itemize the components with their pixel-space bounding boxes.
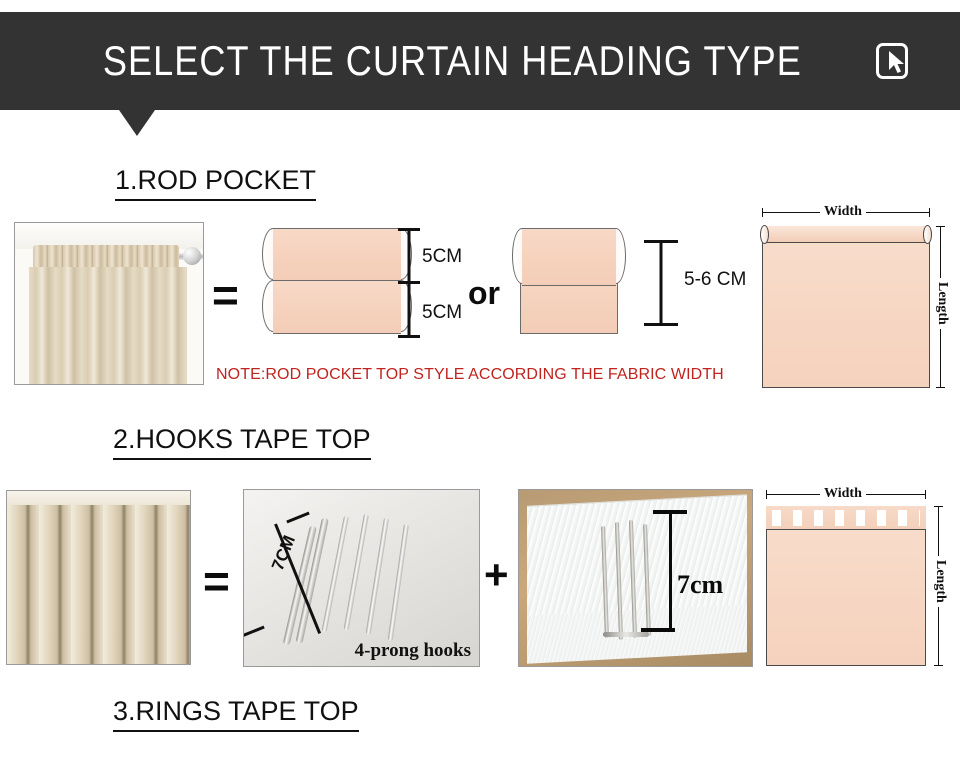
panel-rod-endcap-left — [760, 225, 769, 244]
tape-dimension-cap-bottom — [641, 628, 675, 632]
banner-pointer-tail — [119, 110, 155, 136]
panel-fabric-body — [766, 506, 926, 666]
operator-plus: + — [484, 554, 509, 596]
four-prong-hooks-photo: 7CM 4-prong hooks — [243, 489, 480, 667]
cylinder-body-bottom — [273, 280, 401, 334]
dimension-tick-bottom — [398, 335, 420, 338]
tape-hook-base — [603, 632, 649, 637]
section-heading-rings-tape-top: 3.RINGS TAPE TOP — [113, 696, 359, 732]
dimension-tick-bottom — [644, 323, 678, 326]
dimension-tick-middle — [398, 281, 420, 284]
rod-pocket-single-cylinder-diagram — [512, 228, 632, 336]
dimension-line-5cm-pair — [398, 228, 420, 338]
tape-dimension-line — [669, 512, 672, 630]
operator-equals-1: = — [212, 272, 239, 318]
panel2-length-label: Length — [932, 556, 948, 607]
rod-pocket-note: NOTE:ROD POCKET TOP STYLE ACCORDING THE … — [216, 366, 724, 384]
header-banner: SELECT THE CURTAIN HEADING TYPE — [0, 12, 960, 110]
dimension-tick-top — [644, 240, 678, 243]
cursor-arrow-icon — [889, 51, 909, 75]
dimension-label-top-5cm: 5CM — [422, 246, 462, 268]
panel-rod-endcap-right — [923, 225, 932, 244]
dimension-tick-top — [398, 228, 420, 231]
pinch-pleat-curtain-photo — [6, 490, 191, 665]
panel-tape-band — [766, 506, 926, 530]
page-title: SELECT THE CURTAIN HEADING TYPE — [102, 37, 801, 85]
section-heading-hooks-tape-top: 2.HOOKS TAPE TOP — [113, 424, 371, 460]
panel-fabric-body — [762, 226, 930, 388]
cylinder-body-top — [273, 228, 401, 282]
dimension-stem — [660, 242, 663, 324]
hooks-photo-caption: 4-prong hooks — [355, 640, 471, 662]
dimension-label-5-6cm: 5-6 CM — [684, 269, 746, 291]
dimension-line-5-6cm — [644, 240, 678, 326]
panel-rod-pocket-band — [762, 226, 930, 243]
rod-pocket-curtain-photo — [14, 222, 204, 385]
panel1-width-label: Width — [820, 204, 866, 220]
tape-dimension-cap-top — [653, 510, 687, 514]
rod-finial — [183, 247, 201, 265]
pleat-folds — [7, 505, 190, 665]
cylinder-body — [522, 228, 616, 286]
curtain-heading-type-infographic: SELECT THE CURTAIN HEADING TYPE 1.ROD PO… — [0, 0, 960, 760]
curtain-drape — [29, 267, 187, 385]
panel2-width-label: Width — [820, 486, 866, 502]
rod-pocket-result-panel — [762, 226, 930, 388]
section-heading-rod-pocket: 1.ROD POCKET — [115, 165, 316, 201]
operator-equals-2: = — [203, 558, 230, 604]
panel1-length-label: Length — [934, 278, 950, 329]
pleating-tape-with-hooks-photo: 7cm — [518, 489, 753, 667]
cursor-click-icon — [874, 40, 914, 82]
tape-dimension-label: 7cm — [677, 570, 723, 600]
hooks-tape-result-panel — [766, 506, 926, 666]
flat-panel-below — [520, 282, 618, 334]
dimension-label-bottom-5cm: 5CM — [422, 302, 462, 324]
operator-or: or — [468, 275, 500, 312]
panel-hook-pocket-slots — [772, 510, 920, 526]
